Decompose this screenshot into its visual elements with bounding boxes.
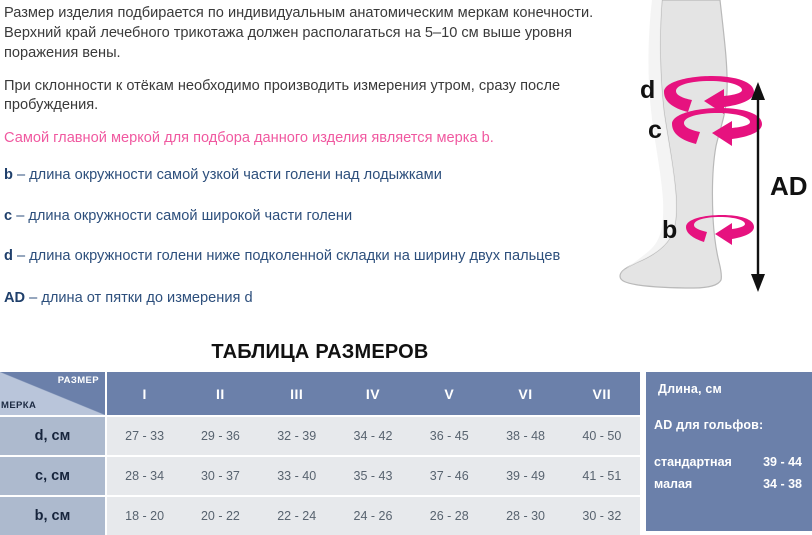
diagram-label-c: c (648, 116, 662, 144)
diagram-label-b: b (662, 216, 677, 244)
cell-c-4: 35 - 43 (335, 456, 411, 496)
cell-d-2: 29 - 36 (182, 416, 258, 456)
cell-b-2: 20 - 22 (182, 496, 258, 535)
diagram-label-ad: AD (770, 171, 808, 201)
column-header-6: VI (487, 372, 563, 416)
measure-arrow-ad (751, 82, 765, 292)
measure-text-c: длина окружности самой широкой части гол… (28, 208, 352, 224)
measure-text-b: длина окружности самой узкой части голен… (29, 167, 442, 183)
corner-measure-label: МЕРКА (1, 400, 36, 411)
measure-dash-b: – (17, 167, 25, 183)
cell-b-5: 26 - 28 (411, 496, 487, 535)
table-row: с, см 28 - 34 30 - 37 33 - 40 35 - 43 37… (0, 456, 640, 496)
measure-key-c: c (4, 208, 12, 224)
measure-key-ad: AD (4, 290, 25, 306)
column-header-3: III (259, 372, 335, 416)
row-label-b: b, см (0, 496, 106, 535)
cell-c-1: 28 - 34 (106, 456, 182, 496)
measure-definition-b: b – длина окружности самой узкой части г… (4, 166, 600, 186)
measure-key-b: b (4, 167, 13, 183)
table-row: d, см 27 - 33 29 - 36 32 - 39 34 - 42 36… (0, 416, 640, 456)
measure-text-d: длина окружности голени ниже подколенной… (29, 248, 560, 264)
column-header-4: IV (335, 372, 411, 416)
column-header-7: VII (564, 372, 640, 416)
cell-c-5: 37 - 46 (411, 456, 487, 496)
cell-c-3: 33 - 40 (259, 456, 335, 496)
table-header-row: РАЗМЕР МЕРКА I II III IV V VI VII (0, 372, 640, 416)
measure-text-ad: длина от пятки до измерения d (41, 290, 252, 306)
cell-c-6: 39 - 49 (487, 456, 563, 496)
cell-d-7: 40 - 50 (564, 416, 640, 456)
leg-silhouette (620, 0, 727, 288)
corner-size-label: РАЗМЕР (58, 375, 99, 386)
ad-length-panel: Длина, см AD для гольфов: стандартная 39… (646, 372, 812, 531)
cell-b-7: 30 - 32 (564, 496, 640, 535)
measure-definition-ad: AD – длина от пятки до измерения d (4, 289, 600, 309)
cell-b-1: 18 - 20 (106, 496, 182, 535)
cell-b-4: 24 - 26 (335, 496, 411, 535)
intro-paragraph-1: Размер изделия подбирается по индивидуал… (4, 4, 600, 64)
leg-measurement-diagram: d c b AD (600, 0, 812, 330)
instructions-text-column: Размер изделия подбирается по индивидуал… (4, 4, 600, 330)
size-table: РАЗМЕР МЕРКА I II III IV V VI VII d, см … (0, 372, 640, 535)
cell-d-1: 27 - 33 (106, 416, 182, 456)
cell-d-4: 34 - 42 (335, 416, 411, 456)
ad-row-standard-label: стандартная (654, 455, 732, 469)
ad-row-small-value: 34 - 38 (763, 477, 806, 491)
column-header-5: V (411, 372, 487, 416)
measure-definition-c: c – длина окружности самой широкой части… (4, 207, 600, 227)
cell-d-3: 32 - 39 (259, 416, 335, 456)
measure-definition-d: d – длина окружности голени ниже подколе… (4, 247, 600, 267)
ad-row-small-label: малая (654, 477, 692, 491)
diagram-label-d: d (640, 76, 655, 104)
ad-row-standard-value: 39 - 44 (763, 455, 806, 469)
measure-key-d: d (4, 248, 13, 264)
ad-panel-subtitle: AD для гольфов: (654, 418, 763, 432)
ad-row-small: малая 34 - 38 (654, 477, 806, 491)
measure-dash-d: – (17, 248, 25, 264)
column-header-2: II (182, 372, 258, 416)
cell-c-2: 30 - 37 (182, 456, 258, 496)
page-title: ТАБЛИЦА РАЗМЕРОВ (0, 341, 640, 364)
cell-b-3: 22 - 24 (259, 496, 335, 535)
row-label-c: с, см (0, 456, 106, 496)
ad-row-standard: стандартная 39 - 44 (654, 455, 806, 469)
intro-paragraph-2: При склонности к отёкам необходимо произ… (4, 77, 600, 117)
table-corner-cell: РАЗМЕР МЕРКА (0, 372, 106, 416)
measure-dash-c: – (16, 208, 24, 224)
cell-b-6: 28 - 30 (487, 496, 563, 535)
measure-dash-ad: – (29, 290, 37, 306)
cell-c-7: 41 - 51 (564, 456, 640, 496)
column-header-1: I (106, 372, 182, 416)
table-row: b, см 18 - 20 20 - 22 22 - 24 24 - 26 26… (0, 496, 640, 535)
highlight-note: Самой главной меркой для подбора данного… (4, 129, 600, 149)
cell-d-5: 36 - 45 (411, 416, 487, 456)
ad-panel-title: Длина, см (658, 382, 722, 396)
cell-d-6: 38 - 48 (487, 416, 563, 456)
row-label-d: d, см (0, 416, 106, 456)
